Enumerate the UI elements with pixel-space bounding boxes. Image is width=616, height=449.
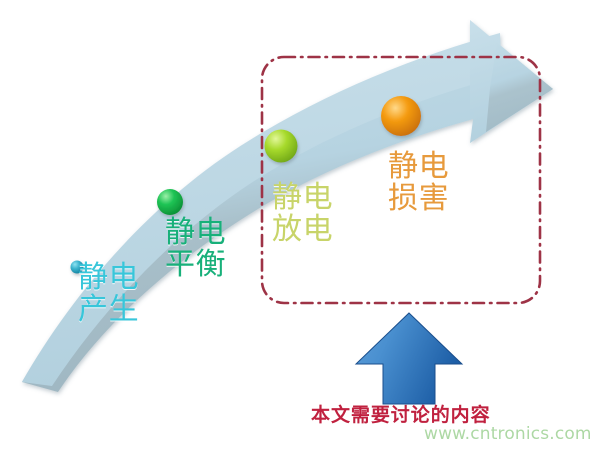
- stage-label-2: 静电 平衡: [165, 217, 226, 280]
- callout-up-arrow: [356, 313, 462, 404]
- stage-label-1: 静电 产生: [78, 262, 139, 325]
- stage-node-4: [381, 96, 421, 136]
- stage-label-3: 静电 放电: [272, 182, 333, 245]
- figure-canvas: 静电 产生 静电 平衡 静电 放电 静电 损害 本文需要讨论的内容 www.cn…: [0, 0, 616, 449]
- stage-node-3: [265, 130, 298, 163]
- site-watermark: www.cntronics.com: [424, 424, 592, 444]
- stage-label-4: 静电 损害: [388, 151, 449, 214]
- stage-node-2: [157, 189, 183, 215]
- discussion-scope-caption: 本文需要讨论的内容: [311, 400, 491, 427]
